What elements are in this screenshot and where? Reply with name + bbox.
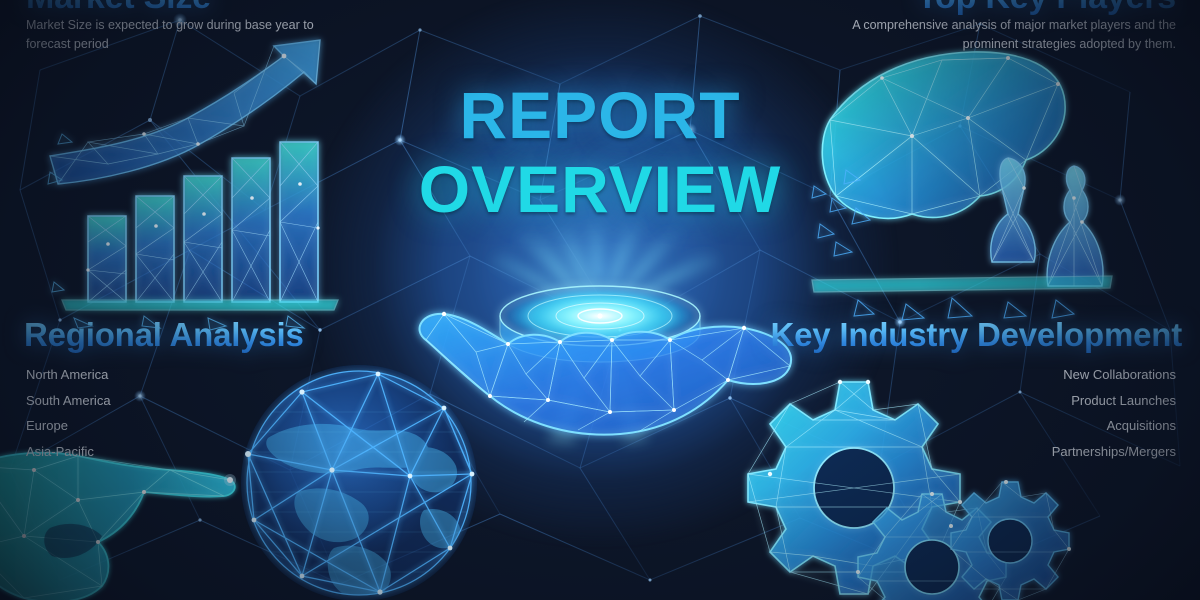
list-item: Acquisitions	[1052, 413, 1176, 439]
list-item: North America	[26, 362, 111, 388]
network-globe-icon	[228, 352, 490, 600]
hand-chess-piece-icon	[812, 48, 1112, 338]
section-subtitle-top-key-players: A comprehensive analysis of major market…	[826, 16, 1176, 54]
list-item: New Collaborations	[1052, 362, 1176, 388]
list-item: Partnerships/Mergers	[1052, 439, 1176, 465]
section-title-regional-analysis: Regional Analysis	[24, 316, 304, 354]
list-item: Asia-Pacific	[26, 439, 111, 465]
gears-icon	[756, 362, 1076, 600]
list-item: South America	[26, 388, 111, 414]
regional-analysis-list: North America South America Europe Asia-…	[26, 362, 111, 464]
key-industry-development-list: New Collaborations Product Launches Acqu…	[1052, 362, 1176, 464]
section-title-top-key-players: Top Key Players	[917, 0, 1176, 17]
list-item: Product Launches	[1052, 388, 1176, 414]
section-subtitle-market-size: Market Size is expected to grow during b…	[26, 16, 316, 54]
list-item: Europe	[26, 413, 111, 439]
section-title-key-industry-development: Key Industry Development	[771, 316, 1182, 354]
infographic-canvas: Market Size Market Size is expected to g…	[0, 0, 1200, 600]
section-title-market-size: Market Size	[26, 0, 211, 17]
growth-bar-chart-arrow-icon	[48, 38, 348, 328]
